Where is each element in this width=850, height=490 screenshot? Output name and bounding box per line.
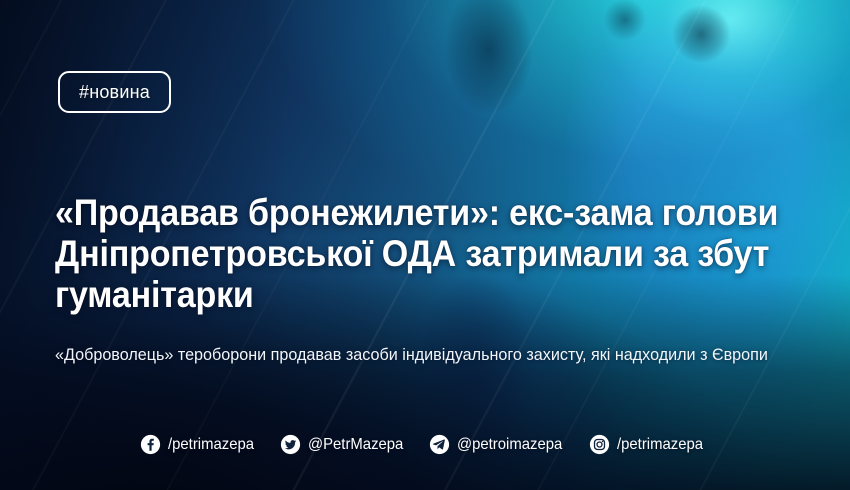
facebook-icon (140, 434, 161, 455)
headline-line-3: гуманітарки (55, 274, 699, 315)
tag-badge-label: #новина (79, 82, 150, 103)
card-content: #новина «Продавав бронежилети»: екс-зама… (0, 0, 850, 490)
twitter-icon (280, 434, 301, 455)
social-link-facebook[interactable]: /petrimazepa (140, 434, 261, 455)
subtitle: «Доброволець» тероборони продавав засоби… (55, 344, 777, 366)
social-links-bar: /petrimazepa @PetrMazepa @petroimazepa (0, 434, 850, 455)
tag-badge[interactable]: #новина (58, 71, 171, 113)
telegram-icon (429, 434, 450, 455)
page-title: «Продавав бронежилети»: екс-зама голови … (55, 192, 699, 315)
social-link-instagram[interactable]: /petrimazepa (589, 434, 710, 455)
news-card: #новина «Продавав бронежилети»: екс-зама… (0, 0, 850, 490)
social-link-telegram[interactable]: @petroimazepa (429, 434, 570, 455)
social-link-twitter[interactable]: @PetrMazepa (280, 434, 411, 455)
headline-line-2: Дніпропетровської ОДА затримали за збут (55, 233, 699, 274)
instagram-icon (589, 434, 610, 455)
instagram-handle: /petrimazepa (617, 436, 703, 454)
headline-line-1: «Продавав бронежилети»: екс-зама голови (55, 192, 699, 233)
twitter-handle: @PetrMazepa (308, 436, 403, 454)
telegram-handle: @petroimazepa (457, 436, 562, 454)
facebook-handle: /petrimazepa (168, 436, 254, 454)
